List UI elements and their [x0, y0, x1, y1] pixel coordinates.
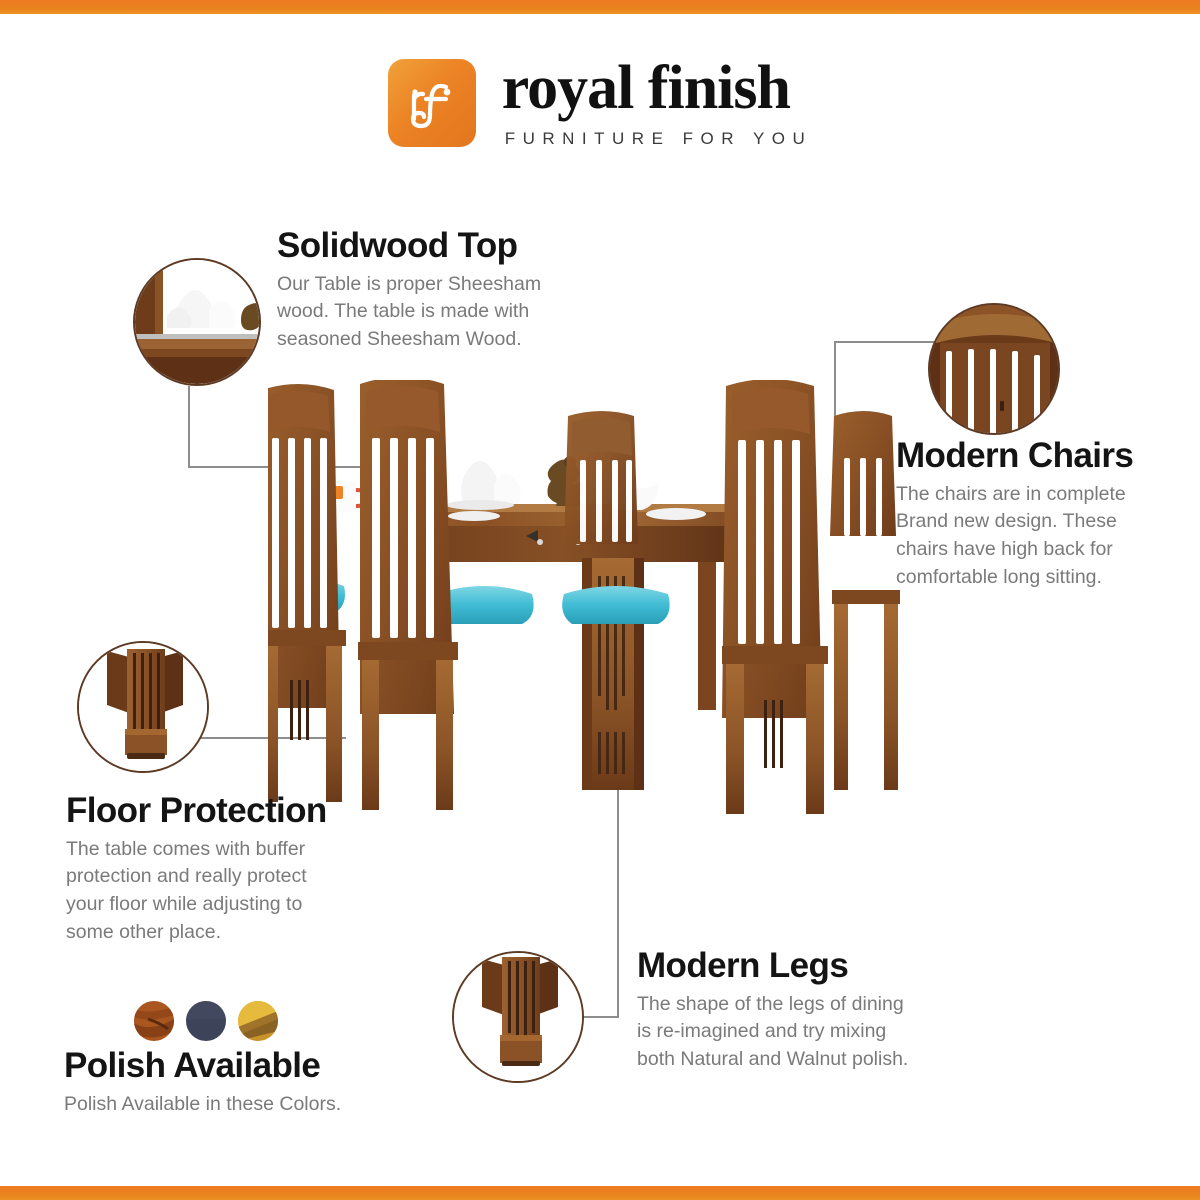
- polish-swatch-row: [134, 1001, 278, 1041]
- feature-body-line: both Natural and Walnut polish.: [637, 1046, 957, 1074]
- feature-body-modern-legs: The shape of the legs of dining is re-im…: [637, 991, 957, 1074]
- brand-name: royal finish: [502, 58, 813, 119]
- feature-body-line: The table comes with buffer: [66, 836, 366, 864]
- feature-solidwood-top: Solidwood Top Our Table is proper Sheesh…: [277, 228, 577, 354]
- feature-title-solidwood-top: Solidwood Top: [277, 228, 577, 265]
- feature-body-line: some other place.: [66, 919, 366, 947]
- leader-line-legs-vertical: [617, 790, 619, 1018]
- feature-title-modern-chairs: Modern Chairs: [896, 438, 1186, 475]
- inset-photo-modern-chairs: [928, 303, 1060, 435]
- feature-title-floor-protection: Floor Protection: [66, 793, 366, 830]
- feature-body-solidwood-top: Our Table is proper Sheesham wood. The t…: [277, 271, 577, 354]
- feature-floor-protection: Floor Protection The table comes with bu…: [66, 793, 366, 947]
- polish-subtitle: Polish Available in these Colors.: [64, 1091, 394, 1119]
- product-photo-dining-set: [268, 380, 908, 820]
- feature-body-line: chairs have high back for: [896, 536, 1186, 564]
- feature-body-modern-chairs: The chairs are in complete Brand new des…: [896, 481, 1186, 592]
- brand-header: royal finish FURNITURE FOR YOU: [0, 58, 1200, 149]
- dark-slate-polish-swatch[interactable]: [186, 1001, 226, 1041]
- infographic-page: royal finish FURNITURE FOR YOU: [0, 0, 1200, 1200]
- feature-modern-chairs: Modern Chairs The chairs are in complete…: [896, 438, 1186, 592]
- feature-body-line: seasoned Sheesham Wood.: [277, 326, 577, 354]
- feature-title-modern-legs: Modern Legs: [637, 948, 957, 985]
- feature-body-floor-protection: The table comes with buffer protection a…: [66, 836, 366, 947]
- brand-tagline: FURNITURE FOR YOU: [502, 129, 813, 149]
- natural-polish-swatch[interactable]: [238, 1001, 278, 1041]
- feature-body-line: wood. The table is made with: [277, 298, 577, 326]
- inset-photo-modern-legs: [452, 951, 584, 1083]
- feature-body-line: is re-imagined and try mixing: [637, 1018, 957, 1046]
- feature-body-line: The shape of the legs of dining: [637, 991, 957, 1019]
- feature-body-line: The chairs are in complete: [896, 481, 1186, 509]
- walnut-polish-swatch[interactable]: [134, 1001, 174, 1041]
- feature-body-line: comfortable long sitting.: [896, 564, 1186, 592]
- feature-modern-legs: Modern Legs The shape of the legs of din…: [637, 948, 957, 1074]
- feature-body-line: protection and really protect: [66, 863, 366, 891]
- polish-title: Polish Available: [64, 1048, 394, 1085]
- bottom-border-bar: [0, 1186, 1200, 1200]
- polish-available-block: Polish Available Polish Available in the…: [64, 1048, 394, 1118]
- feature-body-line: Brand new design. These: [896, 508, 1186, 536]
- top-border-bar: [0, 0, 1200, 14]
- leader-line-solidwood-vertical: [188, 386, 190, 468]
- brand-wordmark-block: royal finish FURNITURE FOR YOU: [502, 58, 813, 149]
- inset-photo-solidwood-top: [133, 258, 261, 386]
- rf-monogram-icon: [388, 59, 476, 147]
- inset-photo-floor-protection: [77, 641, 209, 773]
- feature-body-line: your floor while adjusting to: [66, 891, 366, 919]
- feature-body-line: Our Table is proper Sheesham: [277, 271, 577, 299]
